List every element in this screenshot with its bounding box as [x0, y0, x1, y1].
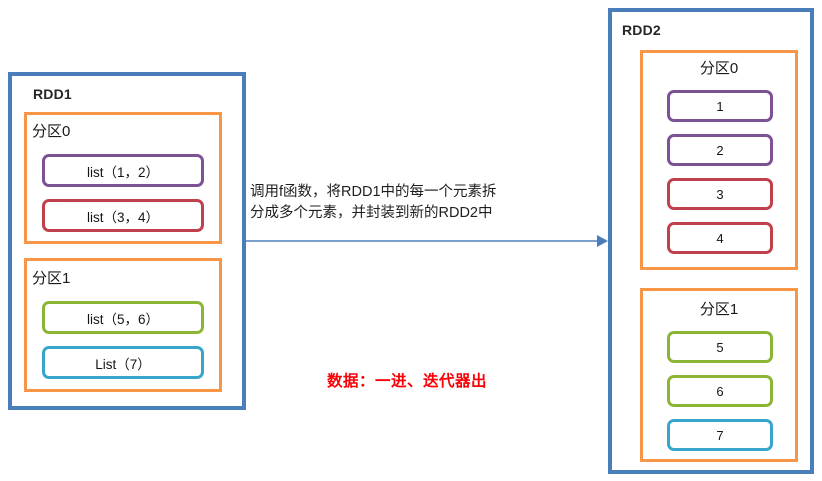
rdd2-partition-0-label: 分区0 [640, 57, 798, 78]
rdd2-partition-1-label: 分区1 [640, 298, 798, 319]
rdd2-element-7: 7 [667, 419, 773, 451]
rdd2-element-1: 1 [667, 90, 773, 122]
rdd1-partition-0-label: 分区0 [32, 120, 70, 141]
rdd2-element-5: 5 [667, 331, 773, 363]
data-flow-note: 数据：一进、迭代器出 [327, 369, 487, 391]
rdd2-element-6: 6 [667, 375, 773, 407]
transform-arrow-head [597, 235, 608, 247]
transform-caption-line-1: 调用f函数，将RDD1中的每一个元素拆 [250, 182, 610, 203]
rdd1-partition-1-label: 分区1 [32, 267, 70, 288]
transform-caption-line-2: 分成多个元素，并封装到新的RDD2中 [250, 203, 610, 224]
transform-arrow-line [246, 240, 598, 242]
rdd2-element-3: 3 [667, 178, 773, 210]
rdd2-element-2: 2 [667, 134, 773, 166]
rdd1-label: RDD1 [33, 86, 72, 102]
rdd2-label: RDD2 [622, 22, 661, 38]
transform-caption: 调用f函数，将RDD1中的每一个元素拆 分成多个元素，并封装到新的RDD2中 [250, 182, 610, 224]
rdd1-element-list-3-4: list（3，4） [42, 199, 204, 232]
rdd1-element-list-5-6: list（5，6） [42, 301, 204, 334]
diagram-canvas: RDD1 分区0 list（1，2） list（3，4） 分区1 list（5，… [0, 0, 822, 481]
rdd1-element-list-7: List（7） [42, 346, 204, 379]
rdd1-element-list-1-2: list（1，2） [42, 154, 204, 187]
rdd2-element-4: 4 [667, 222, 773, 254]
